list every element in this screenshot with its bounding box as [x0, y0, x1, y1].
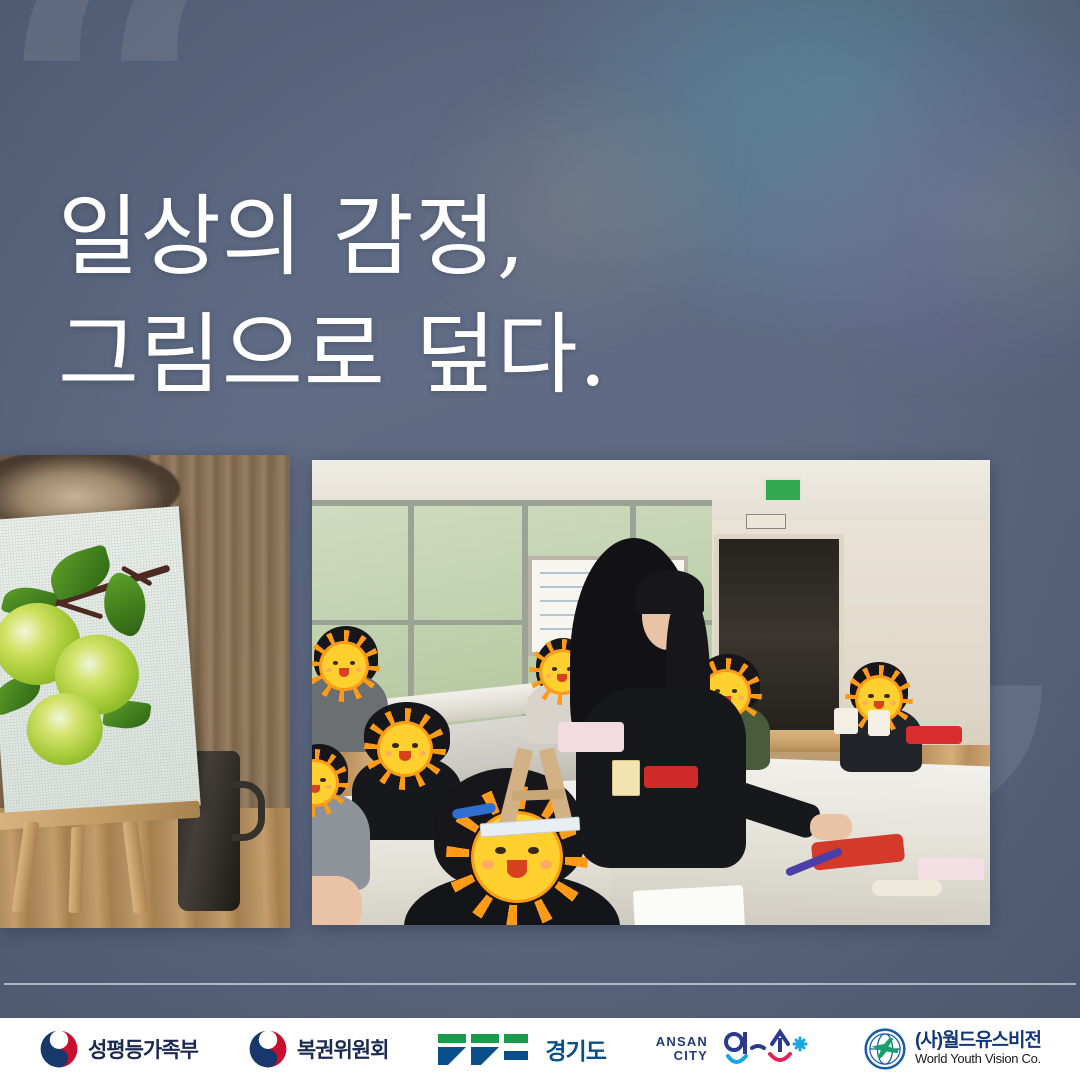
headline-line-2: 그림으로 덮다. — [58, 296, 818, 414]
sun-eye — [392, 743, 399, 748]
headline-line-1: 일상의 감정, — [58, 178, 818, 296]
sun-face — [312, 762, 336, 804]
sun-cheek — [385, 751, 392, 756]
sun-cheek — [546, 674, 552, 678]
taegeuk-icon — [248, 1029, 288, 1069]
sun-mouth — [507, 860, 528, 877]
sun-eye — [884, 694, 889, 698]
supply-snack-pack — [906, 726, 962, 744]
wyv-label-group: (사)월드유스비전 World Youth Vision Co. — [915, 1031, 1041, 1066]
sun-cheek — [738, 696, 744, 700]
photo-classroom-activity — [312, 460, 990, 925]
logo-mogef: 성평등가족부 — [39, 1029, 198, 1069]
gg-arrow-2-icon — [471, 1032, 501, 1066]
logo-mogef-label: 성평등가족부 — [88, 1034, 198, 1064]
ansan-label-line2: CITY — [674, 1049, 708, 1063]
ansan-face-icon — [722, 1028, 814, 1070]
sun-eye — [333, 661, 339, 665]
sun-eye — [732, 689, 738, 693]
sun-cheek — [482, 860, 494, 869]
logo-world-youth-vision: (사)월드유스비전 World Youth Vision Co. — [864, 1028, 1041, 1070]
sun-eye — [552, 667, 557, 671]
sun-cheek — [862, 701, 868, 705]
supply-bottle — [612, 760, 640, 796]
logo-lottery-label: 복권위원회 — [297, 1034, 389, 1064]
ansan-english-label: ANSAN CITY — [656, 1035, 708, 1062]
apple-canvas — [0, 506, 201, 820]
sun-mouth — [874, 701, 884, 709]
sun-cheek — [326, 668, 332, 672]
supply-paper — [633, 885, 745, 925]
supply-beads — [872, 880, 942, 896]
poster-card: “ ” 일상의 감정, 그림으로 덮다. — [0, 0, 1080, 1080]
mini-easel-ledge — [512, 789, 564, 801]
gg-bar-icon — [504, 1032, 530, 1066]
sun-eye — [868, 694, 873, 698]
gg-arrow-1-icon — [438, 1032, 468, 1066]
logo-ansan-city: ANSAN CITY — [656, 1028, 814, 1070]
supply-cup — [868, 710, 890, 736]
instructor-hand — [810, 814, 852, 840]
sun-eye — [412, 743, 419, 748]
supply-snack-pack — [644, 766, 698, 788]
face-cover-sun-icon — [312, 762, 336, 804]
sun-mouth — [339, 668, 350, 677]
pitcher-handle — [232, 781, 265, 841]
ansan-symbol-icon — [722, 1028, 814, 1070]
sun-cheek — [326, 785, 332, 789]
sun-cheek — [419, 751, 426, 756]
sun-eye — [320, 778, 325, 782]
logo-gyeonggi-label: 경기도 — [545, 1032, 605, 1066]
sun-cheek — [540, 860, 552, 869]
sun-eye — [350, 661, 356, 665]
sun-cheek — [890, 701, 896, 705]
sun-mouth — [557, 674, 567, 682]
sun-eye — [495, 847, 506, 855]
face-cover-sun-icon — [380, 724, 430, 774]
ansan-label-line1: ANSAN — [656, 1035, 708, 1049]
sun-face — [380, 724, 430, 774]
sun-mouth — [312, 785, 320, 793]
headline: 일상의 감정, 그림으로 덮다. — [58, 178, 818, 414]
sun-eye — [528, 847, 539, 855]
logo-lottery-commission: 복권위원회 — [248, 1029, 389, 1069]
sun-mouth — [399, 751, 411, 761]
sun-cheek — [356, 668, 362, 672]
photo-apple-painting — [0, 455, 290, 928]
wyv-label-en: World Youth Vision Co. — [915, 1052, 1041, 1066]
supply-tray — [558, 722, 624, 752]
wyv-label-ko: (사)월드유스비전 — [915, 1031, 1041, 1052]
glass-frame-bar — [312, 500, 712, 506]
sponsor-footer: 성평등가족부 복권위원회 — [0, 1018, 1080, 1080]
supply-box — [918, 858, 984, 880]
taegeuk-icon — [39, 1029, 79, 1069]
face-cover-sun-icon — [322, 644, 366, 688]
leg — [312, 876, 362, 925]
wyv-globe-icon — [864, 1028, 906, 1070]
gg-arrows-icon — [438, 1032, 530, 1066]
door-name-plate — [746, 514, 786, 529]
logo-gyeonggi-do: 경기도 — [438, 1032, 605, 1066]
supply-cup — [834, 708, 858, 734]
footer-separator — [4, 983, 1076, 985]
sun-face — [322, 644, 366, 688]
exit-sign-icon — [764, 478, 802, 502]
